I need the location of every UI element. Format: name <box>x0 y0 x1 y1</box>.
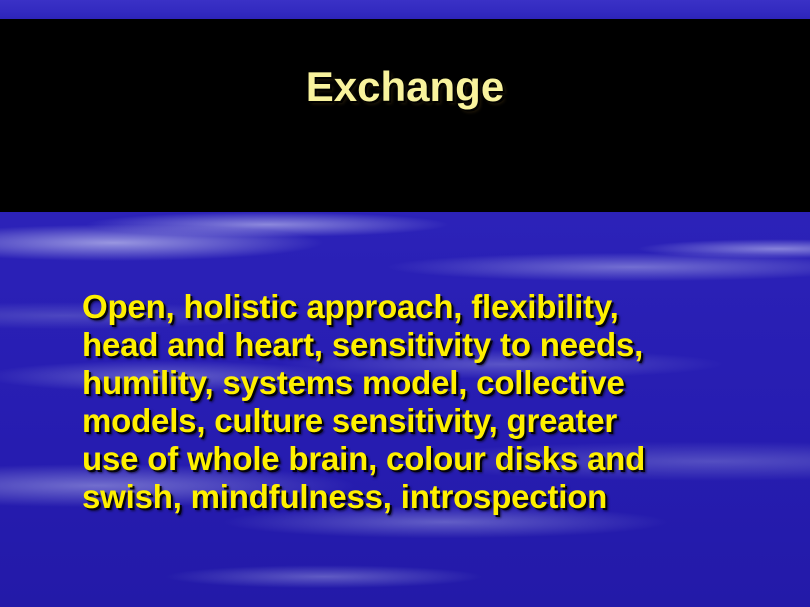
body-line: use of whole brain, colour disks and <box>82 440 794 478</box>
top-blue-strip <box>0 0 810 19</box>
body-line: humility, systems model, collective <box>82 364 794 402</box>
presentation-slide: Exchange Open, holistic approach, flexib… <box>0 0 810 607</box>
slide-title: Exchange <box>0 66 810 108</box>
title-band <box>0 19 810 212</box>
body-line: models, culture sensitivity, greater <box>82 402 794 440</box>
body-line: Open, holistic approach, flexibility, <box>82 288 794 326</box>
slide-body-text: Open, holistic approach, flexibility, he… <box>82 288 794 516</box>
body-line: swish, mindfulness, introspection <box>82 478 794 516</box>
body-line: head and heart, sensitivity to needs, <box>82 326 794 364</box>
